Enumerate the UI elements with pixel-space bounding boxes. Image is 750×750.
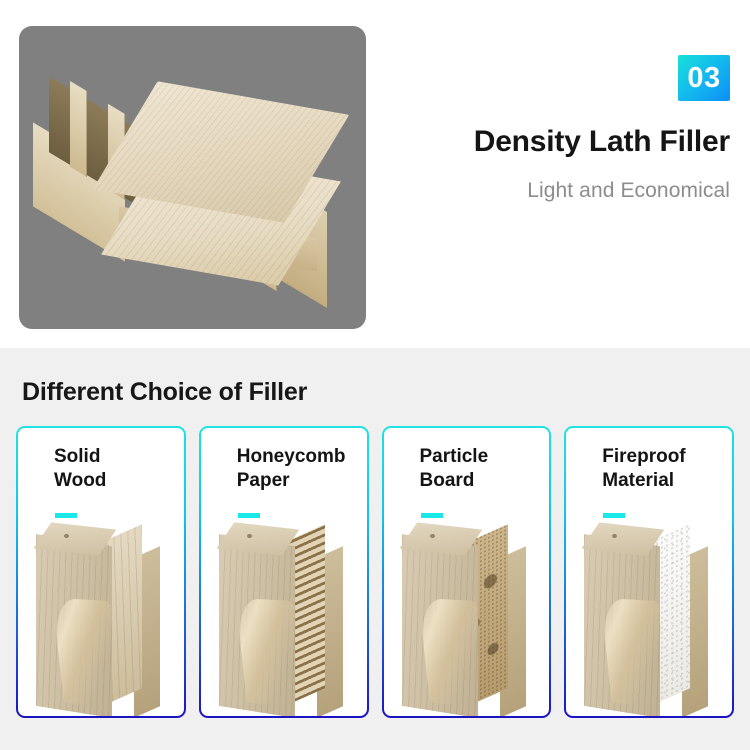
accent-dash (603, 513, 625, 518)
door-moulding-profile (53, 598, 122, 706)
card-figure (384, 520, 552, 716)
door-moulding-profile (418, 598, 487, 706)
lath-panel-illustration (19, 26, 366, 329)
card-title: Honeycomb Paper (237, 445, 346, 494)
card-title: Solid Wood (54, 445, 106, 494)
section-title: Different Choice of Filler (22, 378, 307, 407)
hero-subtitle: Light and Economical (390, 179, 730, 203)
door-cross-section-particle-board (402, 526, 534, 716)
card-figure (566, 520, 734, 716)
card-figure (201, 520, 369, 716)
filler-choices-section: Different Choice of Filler Solid Wood (0, 348, 750, 750)
door-screw-hole (430, 534, 435, 538)
filler-card-fireproof-material[interactable]: Fireproof Material (564, 426, 734, 718)
door-screw-hole (247, 534, 252, 538)
door-moulding-profile (235, 598, 304, 706)
accent-dash (421, 513, 443, 518)
accent-dash (238, 513, 260, 518)
hero-product-image (19, 26, 366, 329)
hero-text-block: 03 Density Lath Filler Light and Economi… (390, 55, 730, 203)
step-number-badge: 03 (678, 55, 730, 101)
accent-dash (55, 513, 77, 518)
door-screw-hole (64, 534, 69, 538)
door-cross-section-honeycomb-paper (219, 526, 351, 716)
filler-card-particle-board[interactable]: Particle Board (382, 426, 552, 718)
hero-section: 03 Density Lath Filler Light and Economi… (0, 0, 750, 348)
filler-card-solid-wood[interactable]: Solid Wood (16, 426, 186, 718)
card-title: Particle Board (420, 445, 489, 494)
filler-card-list: Solid Wood Honeycomb P (16, 426, 734, 718)
door-moulding-profile (601, 598, 670, 706)
hero-title: Density Lath Filler (390, 125, 730, 159)
card-title: Fireproof Material (602, 445, 685, 494)
door-cross-section-solid-wood (36, 526, 168, 716)
filler-card-honeycomb-paper[interactable]: Honeycomb Paper (199, 426, 369, 718)
card-figure (18, 520, 186, 716)
page-root: 03 Density Lath Filler Light and Economi… (0, 0, 750, 750)
door-cross-section-fireproof-material (584, 526, 716, 716)
